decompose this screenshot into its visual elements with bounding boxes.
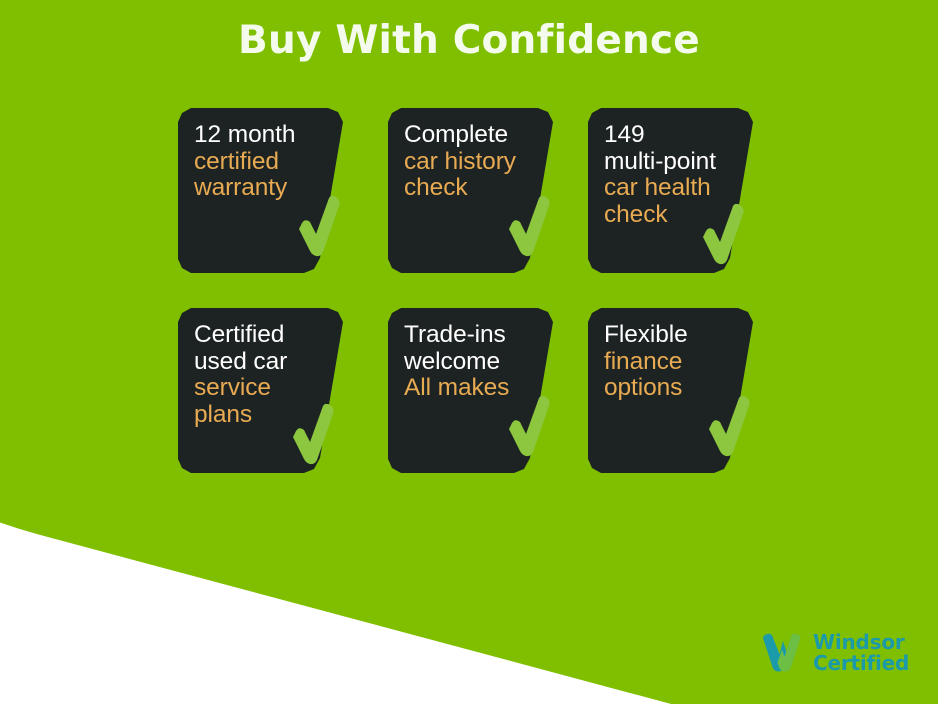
feature-card-line: warranty: [194, 175, 346, 202]
feature-card-text: Certifiedused carserviceplans: [194, 322, 346, 429]
feature-card-line: Trade-ins: [404, 322, 556, 349]
feature-card-line: service: [194, 375, 346, 402]
feature-card: 12 monthcertifiedwarranty: [178, 108, 354, 273]
feature-card-line: Complete: [404, 122, 556, 149]
feature-card-line: car history: [404, 149, 556, 176]
feature-card-text: Completecar historycheck: [404, 122, 556, 202]
feature-card: Trade-inswelcomeAll makes: [388, 308, 564, 473]
feature-card-line: car health: [604, 175, 756, 202]
feature-card-text: 149multi-pointcar healthcheck: [604, 122, 756, 229]
feature-card-line: Flexible: [604, 322, 756, 349]
logo-line-1: Windsor: [813, 632, 909, 653]
page-title: Buy With Confidence: [0, 18, 938, 63]
feature-card-line: check: [404, 175, 556, 202]
feature-card: Flexiblefinanceoptions: [588, 308, 764, 473]
feature-card-text: Flexiblefinanceoptions: [604, 322, 756, 402]
feature-card-line: 12 month: [194, 122, 346, 149]
feature-card-line: check: [604, 202, 756, 229]
feature-card-line: 149: [604, 122, 756, 149]
windsor-certified-logo: Windsor Certified: [758, 624, 930, 682]
feature-card-line: multi-point: [604, 149, 756, 176]
feature-card-line: certified: [194, 149, 346, 176]
feature-card-line: welcome: [404, 349, 556, 376]
windsor-w-icon: [758, 629, 806, 677]
feature-card-line: options: [604, 375, 756, 402]
feature-card-line: plans: [194, 402, 346, 429]
feature-card-grid: 12 monthcertifiedwarrantyCompletecar his…: [178, 108, 778, 480]
feature-card-line: finance: [604, 349, 756, 376]
feature-card-line: Certified: [194, 322, 346, 349]
feature-card-line: All makes: [404, 375, 556, 402]
logo-wordmark: Windsor Certified: [813, 632, 909, 674]
promotional-banner: Buy With Confidence 12 monthcertifiedwar…: [0, 0, 938, 704]
feature-card: 149multi-pointcar healthcheck: [588, 108, 764, 273]
feature-card: Certifiedused carserviceplans: [178, 308, 354, 473]
feature-card: Completecar historycheck: [388, 108, 564, 273]
feature-card-line: used car: [194, 349, 346, 376]
feature-card-text: 12 monthcertifiedwarranty: [194, 122, 346, 202]
feature-card-text: Trade-inswelcomeAll makes: [404, 322, 556, 402]
logo-line-2: Certified: [813, 653, 909, 674]
